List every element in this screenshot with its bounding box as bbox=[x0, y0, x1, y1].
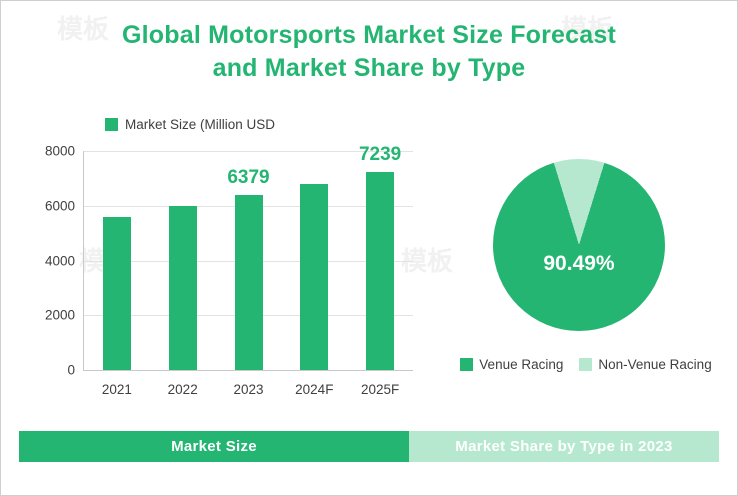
footer-label-market-size: Market Size bbox=[19, 431, 409, 462]
pie-legend-label: Non-Venue Racing bbox=[598, 357, 711, 372]
x-axis-tick-label: 2022 bbox=[168, 382, 198, 397]
bar-chart-legend: Market Size (Million USD bbox=[105, 117, 275, 132]
bar-chart-plot-area: 0200040006000800020212022637920232024F72… bbox=[83, 151, 413, 371]
footer-label-market-share: Market Share by Type in 2023 bbox=[409, 431, 719, 462]
x-axis-tick-label: 2024F bbox=[295, 382, 333, 397]
pie-slice-label: 90.49% bbox=[543, 252, 614, 276]
title-line-2: and Market Share by Type bbox=[1, 52, 737, 85]
y-axis-tick-label: 4000 bbox=[45, 253, 75, 268]
x-axis-tick-label: 2025F bbox=[361, 382, 399, 397]
bar bbox=[300, 184, 328, 370]
bar-legend-label: Market Size (Million USD bbox=[125, 117, 275, 132]
y-axis-tick-label: 8000 bbox=[45, 144, 75, 159]
bar bbox=[235, 195, 263, 370]
title-line-1: Global Motorsports Market Size Forecast bbox=[1, 19, 737, 52]
footer-bars: Market Size Market Share by Type in 2023 bbox=[19, 431, 719, 462]
bar-value-label: 6379 bbox=[227, 167, 269, 189]
pie-legend-label: Venue Racing bbox=[479, 357, 563, 372]
pie-chart-panel: 90.49% Venue RacingNon-Venue Racing bbox=[441, 119, 731, 419]
page-title: Global Motorsports Market Size Forecast … bbox=[1, 19, 737, 85]
y-axis-tick-label: 0 bbox=[67, 363, 75, 378]
bar bbox=[366, 172, 394, 370]
pie-legend-item: Non-Venue Racing bbox=[579, 357, 711, 372]
bar bbox=[169, 206, 197, 370]
bar-value-label: 7239 bbox=[359, 144, 401, 166]
pie-legend-item: Venue Racing bbox=[460, 357, 563, 372]
y-axis-tick-label: 6000 bbox=[45, 198, 75, 213]
legend-swatch-icon bbox=[579, 358, 592, 371]
bar-chart-panel: Market Size (Million USD 020004000600080… bbox=[13, 109, 433, 419]
y-axis-tick-label: 2000 bbox=[45, 308, 75, 323]
legend-swatch-icon bbox=[105, 118, 118, 131]
pie-chart: 90.49% bbox=[493, 159, 665, 331]
pie-chart-legend: Venue RacingNon-Venue Racing bbox=[441, 357, 731, 372]
legend-swatch-icon bbox=[460, 358, 473, 371]
x-axis-tick-label: 2021 bbox=[102, 382, 132, 397]
chart-page: 模板 模板 模板 模板 Global Motorsports Market Si… bbox=[0, 0, 738, 496]
bar bbox=[103, 217, 131, 370]
x-axis-tick-label: 2023 bbox=[233, 382, 263, 397]
